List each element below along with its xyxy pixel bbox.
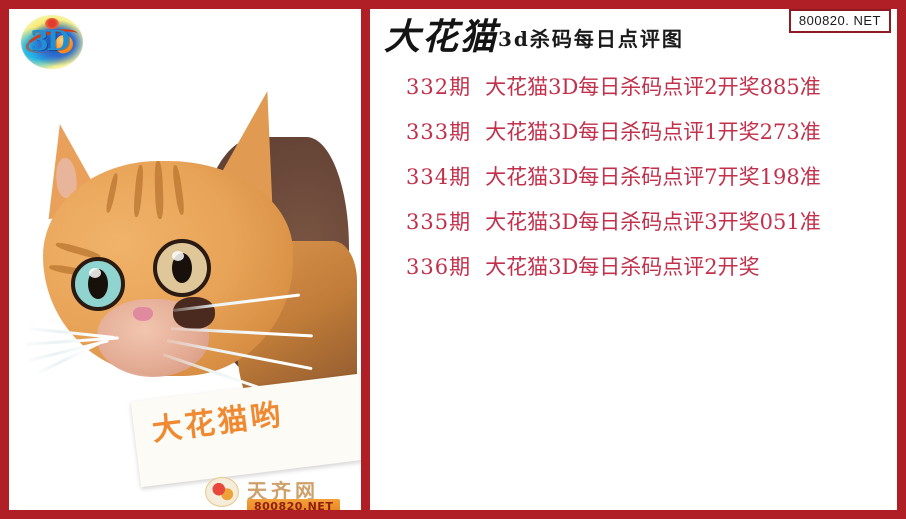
- site-watermark: 800820. NET: [789, 9, 891, 33]
- 3d-lottery-logo-icon: 3D: [21, 15, 83, 69]
- site-branding: 天齐网 800820.NET: [205, 475, 355, 510]
- list-item: 336期 大花猫3D每日杀码点评2开奖: [370, 251, 897, 296]
- cat-stripe: [133, 165, 145, 217]
- entry-text: 大花猫3D每日杀码点评2开奖: [471, 251, 760, 281]
- poster-page: 800820. NET 3D: [0, 0, 906, 519]
- entry-text: 大花猫3D每日杀码点评2开奖885准: [471, 71, 821, 101]
- brand-url-badge: 800820.NET: [247, 499, 340, 510]
- right-content-panel: 大花猫 3d杀码每日点评图 332期 大花猫3D每日杀码点评2开奖885准 33…: [370, 9, 897, 510]
- entry-list: 332期 大花猫3D每日杀码点评2开奖885准 333期 大花猫3D每日杀码点评…: [370, 71, 897, 296]
- entry-text: 大花猫3D每日杀码点评1开奖273准: [471, 116, 821, 146]
- cat-eye-right: [153, 239, 211, 297]
- entry-period: 334期: [406, 161, 471, 191]
- page-title: 大花猫 3d杀码每日点评图: [384, 17, 684, 57]
- list-item: 335期 大花猫3D每日杀码点评3开奖051准: [370, 206, 897, 251]
- cat-stripe: [172, 165, 186, 215]
- cat-illustration: 大花猫哟: [23, 71, 353, 471]
- cat-mouth: [173, 297, 215, 329]
- cat-eye-left: [71, 257, 125, 311]
- page-title-sub: 3d杀码每日点评图: [498, 24, 684, 57]
- entry-text: 大花猫3D每日杀码点评7开奖198准: [471, 161, 821, 191]
- cat-stripe: [105, 173, 119, 213]
- list-item: 333期 大花猫3D每日杀码点评1开奖273准: [370, 116, 897, 161]
- panel-divider: [361, 9, 370, 510]
- brand-mascot-icon: [205, 477, 239, 507]
- cat-held-sign: 大花猫哟: [131, 373, 361, 487]
- left-poster-panel: 3D: [9, 9, 361, 510]
- cat-nose: [133, 307, 153, 321]
- entry-period: 336期: [406, 251, 471, 281]
- entry-period: 332期: [406, 71, 471, 101]
- cat-whisker: [38, 341, 100, 374]
- cat-sign-text: 大花猫哟: [149, 389, 285, 449]
- logo-3d-text: 3D: [30, 28, 68, 55]
- cat-eye-glint-right: [172, 251, 184, 261]
- entry-period: 335期: [406, 206, 471, 236]
- entry-text: 大花猫3D每日杀码点评3开奖051准: [471, 206, 821, 236]
- page-title-main: 大花猫: [384, 17, 498, 57]
- entry-period: 333期: [406, 116, 471, 146]
- list-item: 332期 大花猫3D每日杀码点评2开奖885准: [370, 71, 897, 116]
- cat-stripe: [154, 161, 164, 219]
- list-item: 334期 大花猫3D每日杀码点评7开奖198准: [370, 161, 897, 206]
